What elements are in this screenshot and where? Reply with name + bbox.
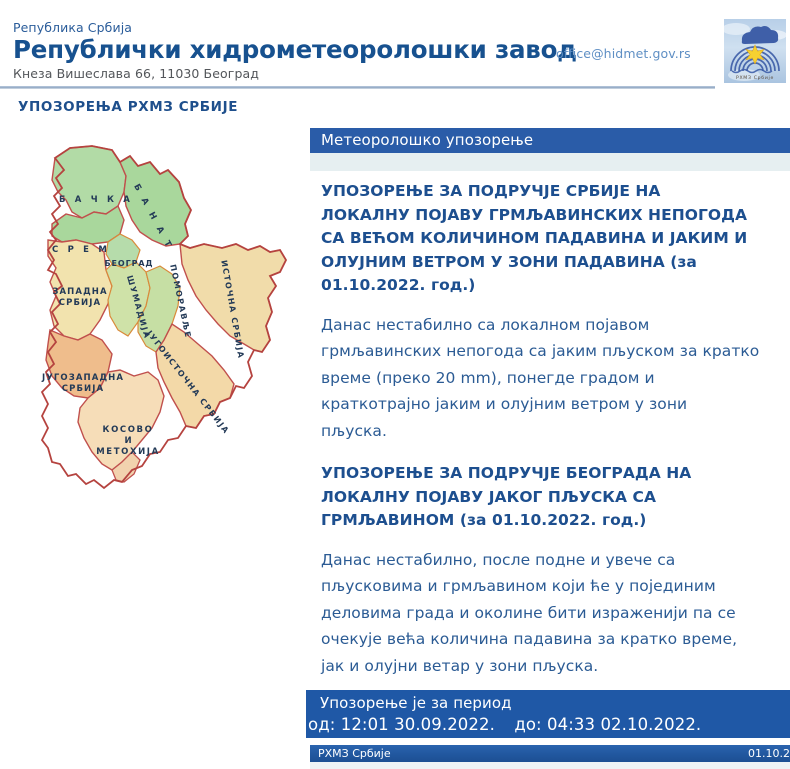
org-address: Кнеза Вишеслава 66, 11030 Београд [13, 66, 577, 82]
warning-text-serbia: Данас нестабилно са локалном појавом грм… [321, 312, 790, 445]
page-header: Република Србија Републички хидрометеоро… [0, 0, 790, 92]
warning-text-belgrade: Данас нестабилно, после подне и увече са… [321, 547, 790, 680]
serbia-regions-map: Б А Ч К А Б А Н А Т С Р Е М БЕОГРАД ЗАПА… [8, 140, 300, 540]
svg-text:МЕТОХИЈА: МЕТОХИЈА [96, 447, 160, 457]
svg-text:РХМЗ Србије: РХМЗ Србије [736, 75, 774, 81]
svg-text:СРБИЈА: СРБИЈА [62, 384, 104, 394]
rhmz-emblem-icon: РХМЗ Србије [724, 19, 786, 83]
period-range: од: 12:01 30.09.2022. до: 04:33 02.10.20… [306, 714, 790, 736]
meteo-warning-panel: Метеоролошко упозорење УПОЗОРЕЊЕ ЗА ПОДР… [310, 128, 790, 679]
warning-panel-subbar [310, 153, 790, 171]
footer-source-label: РХМЗ Србије [318, 745, 391, 762]
warning-period-bar: Упозорење је за период од: 12:01 30.09.2… [306, 690, 790, 738]
svg-text:ЈУГОЗАПАДНА: ЈУГОЗАПАДНА [41, 373, 124, 383]
svg-text:Б А Ч К А: Б А Ч К А [59, 195, 133, 205]
period-to-value: 04:33 02.10.2022. [547, 715, 701, 734]
svg-text:ЗАПАДНА: ЗАПАДНА [52, 287, 107, 297]
contact-email-link[interactable]: office@hidmet.gov.rs [556, 46, 691, 61]
svg-text:И: И [124, 436, 131, 446]
svg-text:БЕОГРАД: БЕОГРАД [105, 259, 154, 268]
period-to-label: до: [514, 715, 541, 734]
period-from-value: 12:01 30.09.2022. [341, 715, 495, 734]
warning-heading-belgrade: УПОЗОРЕЊЕ ЗА ПОДРУЧЈЕ БЕОГРАДА НА ЛОКАЛН… [321, 462, 790, 533]
footer-date-label: 01.10.2 [748, 745, 790, 762]
period-from-label: од: [308, 715, 335, 734]
svg-text:СРБИЈА: СРБИЈА [59, 298, 101, 308]
warning-panel-titlebar: Метеоролошко упозорење [310, 128, 790, 153]
svg-text:КОСОВО: КОСОВО [103, 425, 154, 435]
status-footer-bar: РХМЗ Србије 01.10.2 [310, 745, 790, 762]
header-divider [0, 86, 715, 89]
org-name-title: Републички хидрометеоролошки завод [13, 36, 577, 64]
organization-block: Република Србија Републички хидрометеоро… [13, 20, 577, 82]
warning-heading-serbia: УПОЗОРЕЊЕ ЗА ПОДРУЧЈЕ СРБИЈЕ НА ЛОКАЛНУ … [321, 180, 790, 298]
page-title: УПОЗОРЕЊА РХМЗ СРБИЈЕ [18, 99, 238, 115]
footer-tail-strip [310, 762, 790, 769]
period-label: Упозорење је за период [306, 690, 790, 714]
org-country-label: Република Србија [13, 20, 577, 35]
svg-text:С Р Е М: С Р Е М [52, 245, 110, 255]
warning-panel-body: УПОЗОРЕЊЕ ЗА ПОДРУЧЈЕ СРБИЈЕ НА ЛОКАЛНУ … [310, 171, 790, 679]
